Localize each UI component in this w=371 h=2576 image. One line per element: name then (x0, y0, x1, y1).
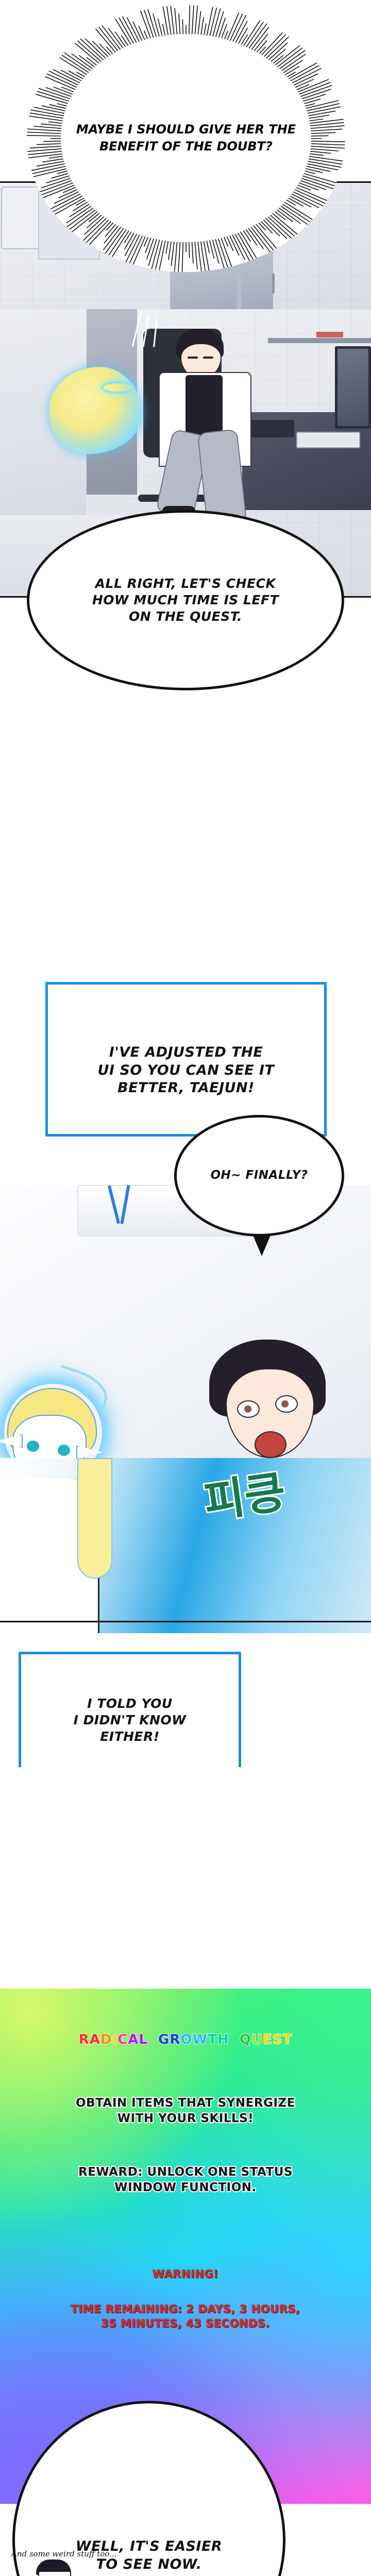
chibi-taejun (32, 2560, 76, 2576)
quest-title-letter: T (283, 2032, 293, 2047)
quest-title-letter: C (117, 2032, 128, 2047)
quest-title-letter: L (139, 2032, 148, 2047)
blonde-hair-strand (77, 1458, 112, 1579)
quest-title-letter: Q (240, 2032, 251, 2047)
bubble-oh-finally-text: OH~ FINALLY? (205, 1168, 313, 1183)
book-on-shelf (316, 332, 343, 337)
door-handle (272, 273, 275, 294)
quest-objective: OBTAIN ITEMS THAT SYNERGIZE WITH YOUR SK… (0, 2096, 371, 2127)
burst-thought-bubble: MAYBE I SHOULD GIVE HER THE BENEFIT OF T… (27, 5, 345, 272)
gutter-1 (0, 711, 371, 860)
sfx-piking: 피킁 (201, 1471, 288, 1524)
panel-1-thought-burst: MAYBE I SHOULD GIVE HER THE BENEFIT OF T… (0, 0, 371, 309)
closeup-band: 피킁 (0, 1458, 371, 1633)
quest-title-letters: RADICAL GROWTH QUEST (79, 2032, 293, 2047)
webtoon-page: MAYBE I SHOULD GIVE HER THE BENEFIT OF T… (0, 0, 371, 2576)
aside-weird-stuff: And some weird stuff too... (11, 2549, 116, 2558)
gutter-2 (0, 1767, 371, 1989)
keyboard (296, 432, 360, 448)
cabinet (1, 187, 40, 249)
spirit-halo-icon (101, 381, 135, 394)
pupil-right (281, 1400, 289, 1408)
bubble-quest-check-text: ALL RIGHT, LET'S CHECK HOW MUCH TIME IS … (87, 575, 284, 625)
quest-title-letter: E (263, 2032, 273, 2047)
eye-right (58, 1445, 70, 1456)
quest-title-letter: O (180, 2032, 192, 2047)
blue-check-mark-icon (112, 1185, 133, 1232)
burst-core: MAYBE I SHOULD GIVE HER THE BENEFIT OF T… (61, 34, 311, 242)
pupil-left (244, 1405, 251, 1413)
bubble-ui-adjusted: I'VE ADJUSTED THE UI SO YOU CAN SEE IT B… (45, 982, 327, 1137)
quest-title-letter: U (251, 2032, 263, 2047)
bubble-oh-finally: OH~ FINALLY? (174, 1115, 344, 1236)
quest-title-letter: H (217, 2032, 229, 2047)
quest-title-letter: A (90, 2032, 100, 2047)
quest-title-letter: R (170, 2032, 180, 2047)
mouth (255, 1431, 286, 1458)
eye-left (27, 1440, 39, 1452)
motion-lines (133, 311, 169, 358)
quest-title-letter: W (193, 2032, 208, 2047)
shelf (268, 338, 371, 343)
bubble-quest-check: ALL RIGHT, LET'S CHECK HOW MUCH TIME IS … (27, 510, 344, 690)
quest-title-letter: S (273, 2032, 283, 2047)
quest-warning-label: WARNING! (0, 2267, 371, 2281)
panel-1-text: MAYBE I SHOULD GIVE HER THE BENEFIT OF T… (61, 121, 311, 155)
quest-title: RADICAL GROWTH QUEST (0, 2032, 371, 2047)
quest-title-letter: A (128, 2032, 139, 2047)
closed-eye-left (188, 357, 198, 359)
bubble-easier-to-see-text: WELL, IT'S EASIER TO SEE NOW. (71, 2506, 227, 2573)
quest-time-remaining: TIME REMAINING: 2 DAYS, 3 HOURS, 35 MINU… (0, 2302, 371, 2331)
monitor-screen (338, 349, 368, 426)
quest-title-letter: T (208, 2032, 217, 2047)
closeup-bottom-rule (0, 1621, 371, 1622)
quest-reward: REWARD: UNLOCK ONE STATUS WINDOW FUNCTIO… (0, 2165, 371, 2196)
quest-title-letter: G (158, 2032, 170, 2047)
bubble-ui-adjusted-text: I'VE ADJUSTED THE UI SO YOU CAN SEE IT B… (93, 1021, 280, 1097)
bubble-told-you-text: I TOLD YOU I DIDN'T KNOW EITHER! (69, 1677, 192, 1745)
quest-title-letter: I (112, 2032, 117, 2047)
quest-title-letter (148, 2032, 158, 2047)
panel-2-office: ALL RIGHT, LET'S CHECK HOW MUCH TIME IS … (0, 309, 371, 711)
quest-title-letter (229, 2032, 240, 2047)
panel-3-ui-adjusted: I'VE ADJUSTED THE UI SO YOU CAN SEE IT B… (0, 860, 371, 1767)
closed-eye-right (203, 357, 213, 359)
quest-title-letter: R (79, 2032, 90, 2047)
bubble-told-you: I TOLD YOU I DIDN'T KNOW EITHER! (19, 1652, 241, 1767)
monitor (335, 346, 371, 429)
quest-title-letter: D (100, 2032, 112, 2047)
